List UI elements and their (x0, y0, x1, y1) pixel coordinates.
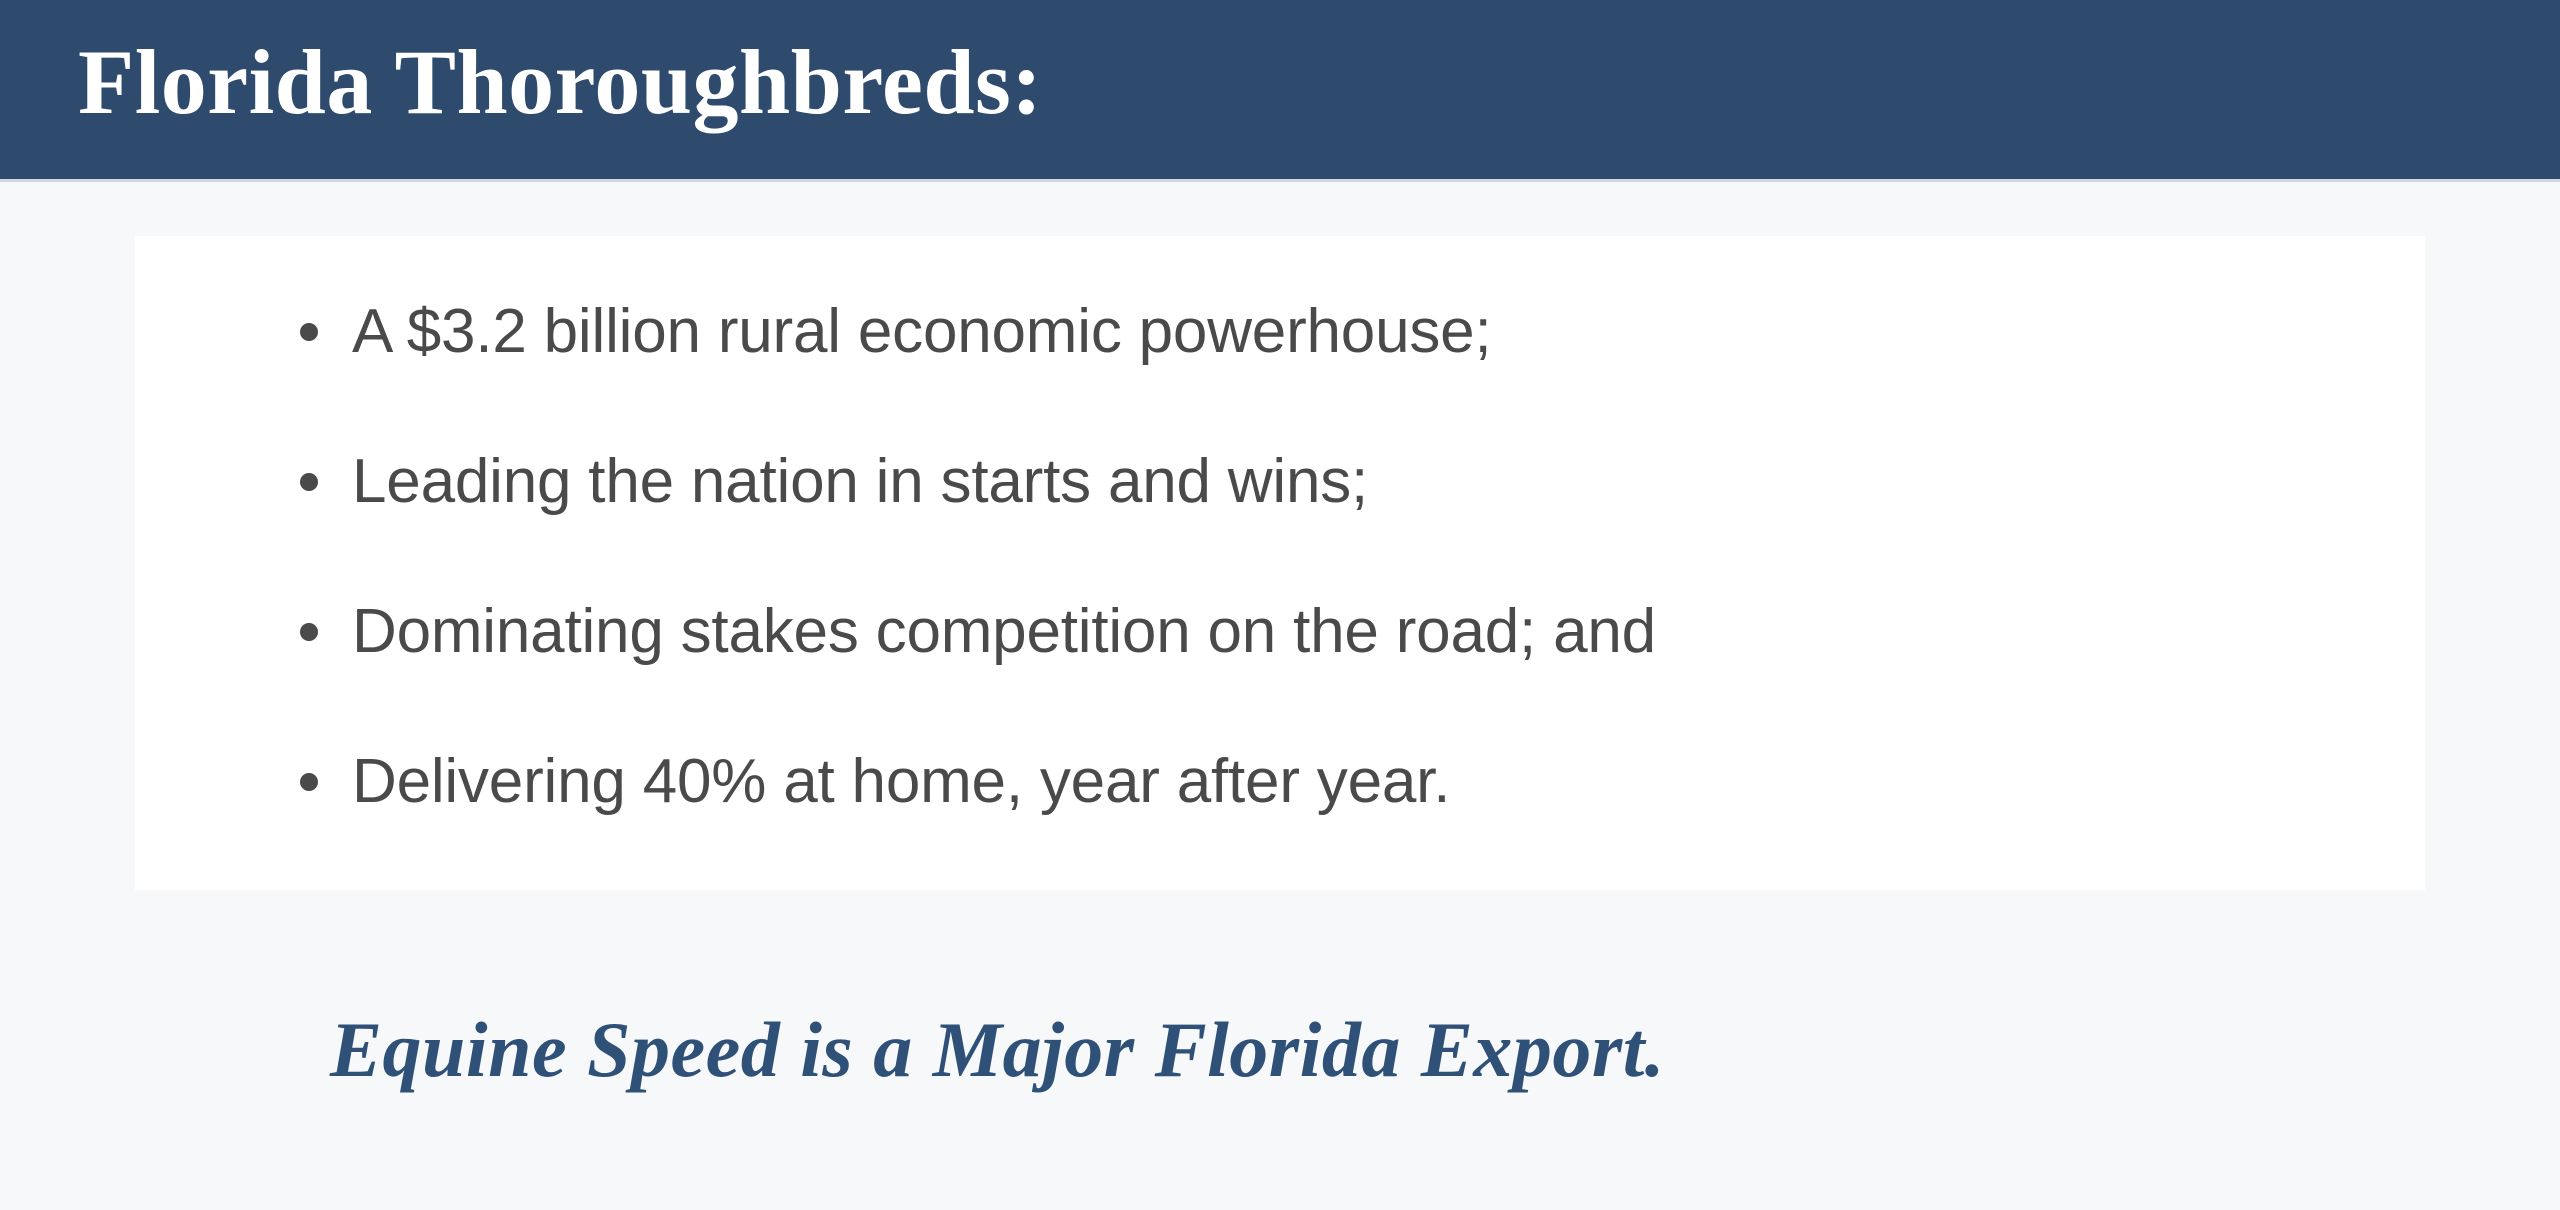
bullet-point-icon (300, 773, 318, 791)
list-item-label: Delivering 40% at home, year after year. (352, 744, 1450, 820)
slide-tagline: Equine Speed is a Major Florida Export. (330, 1000, 1665, 1100)
bullet-content-card: A $3.2 billion rural economic powerhouse… (135, 236, 2425, 890)
list-item: Leading the nation in starts and wins; (300, 444, 1368, 520)
bullet-point-icon (300, 473, 318, 491)
presentation-slide: Florida Thoroughbreds: A $3.2 billion ru… (0, 0, 2560, 1210)
list-item: Dominating stakes competition on the roa… (300, 594, 1656, 670)
list-item-label: Dominating stakes competition on the roa… (352, 594, 1656, 670)
list-item: Delivering 40% at home, year after year. (300, 744, 1450, 820)
list-item-label: Leading the nation in starts and wins; (352, 444, 1368, 520)
list-item-label: A $3.2 billion rural economic powerhouse… (352, 294, 1491, 370)
slide-title-band: Florida Thoroughbreds: (0, 0, 2560, 182)
bullet-point-icon (300, 323, 318, 341)
bullet-point-icon (300, 623, 318, 641)
list-item: A $3.2 billion rural economic powerhouse… (300, 294, 1491, 370)
page-title: Florida Thoroughbreds: (78, 16, 1042, 148)
